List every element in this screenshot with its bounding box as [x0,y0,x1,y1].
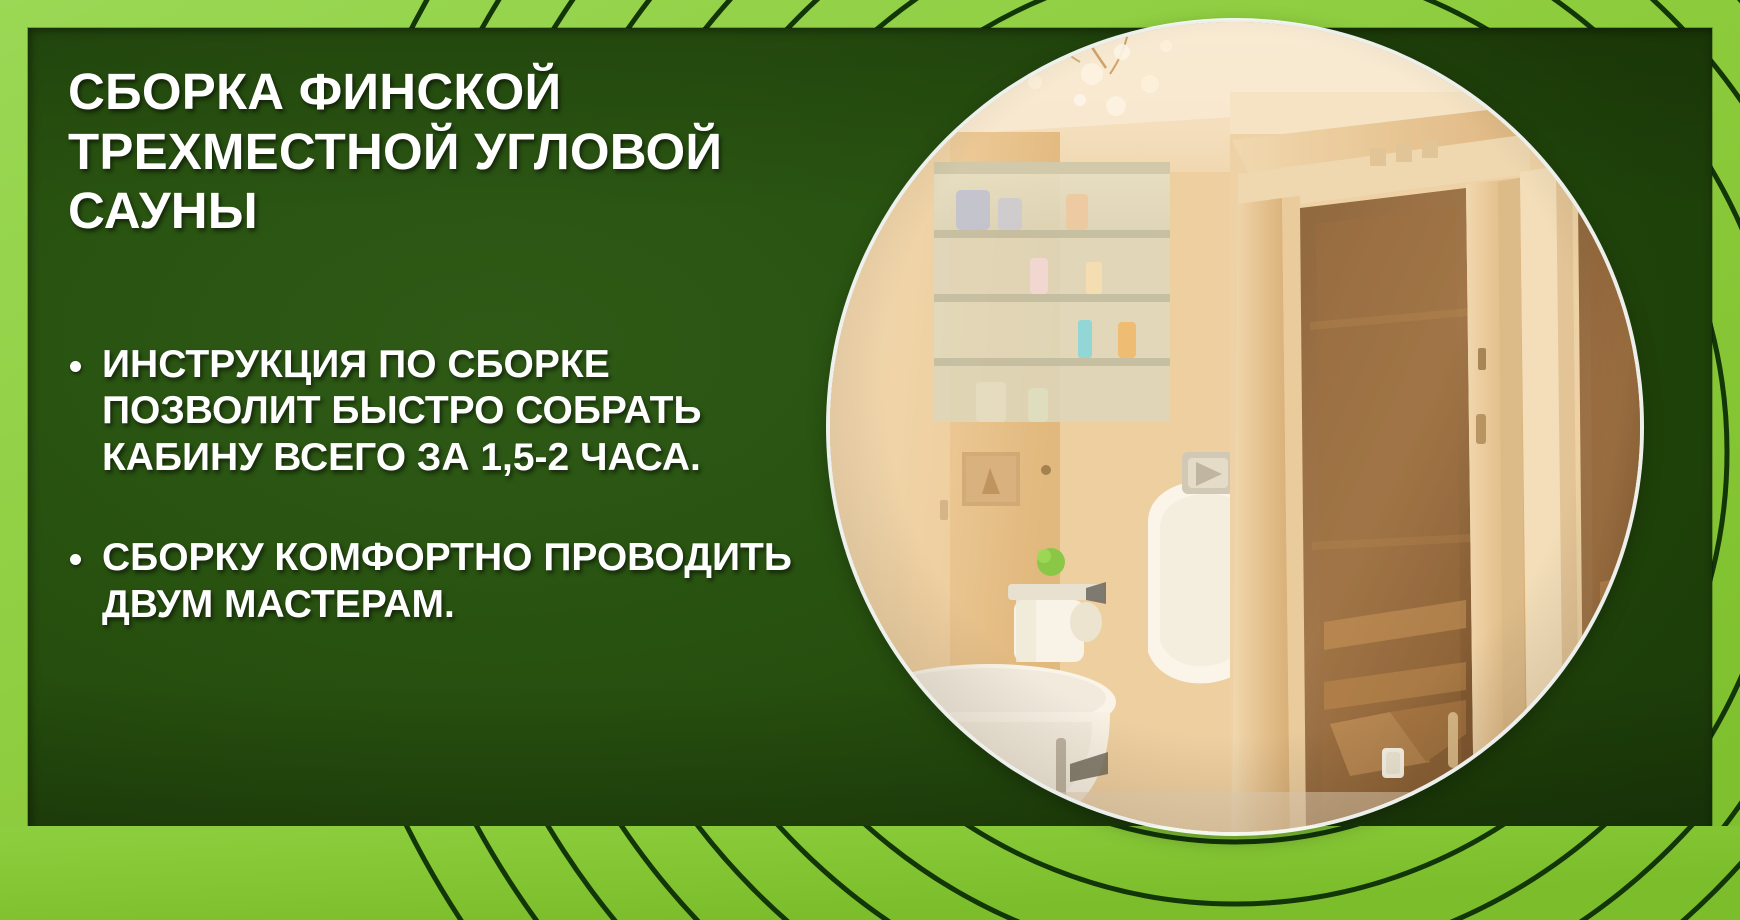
sauna-photo [830,22,1640,832]
list-item: ИНСТРУКЦИЯ ПО СБОРКЕ ПОЗВОЛИТ БЫСТРО СОБ… [68,342,802,481]
page-title: СБОРКА ФИНСКОЙ ТРЕХМЕСТНОЙ УГЛОВОЙ САУНЫ [68,62,788,241]
bullet-dot-icon [70,361,81,372]
bullet-dot-icon [70,554,81,565]
list-item: СБОРКУ КОМФОРТНО ПРОВОДИТЬ ДВУМ МАСТЕРАМ… [68,535,802,628]
text-column: СБОРКА ФИНСКОЙ ТРЕХМЕСТНОЙ УГЛОВОЙ САУНЫ… [68,62,798,241]
benefits-list: ИНСТРУКЦИЯ ПО СБОРКЕ ПОЗВОЛИТ БЫСТРО СОБ… [68,342,808,628]
list-item-text: СБОРКУ КОМФОРТНО ПРОВОДИТЬ ДВУМ МАСТЕРАМ… [102,536,792,625]
promo-slide: СБОРКА ФИНСКОЙ ТРЕХМЕСТНОЙ УГЛОВОЙ САУНЫ… [0,0,1740,920]
list-item-text: ИНСТРУКЦИЯ ПО СБОРКЕ ПОЗВОЛИТ БЫСТРО СОБ… [102,343,702,479]
sauna-photo-image [830,22,1640,832]
